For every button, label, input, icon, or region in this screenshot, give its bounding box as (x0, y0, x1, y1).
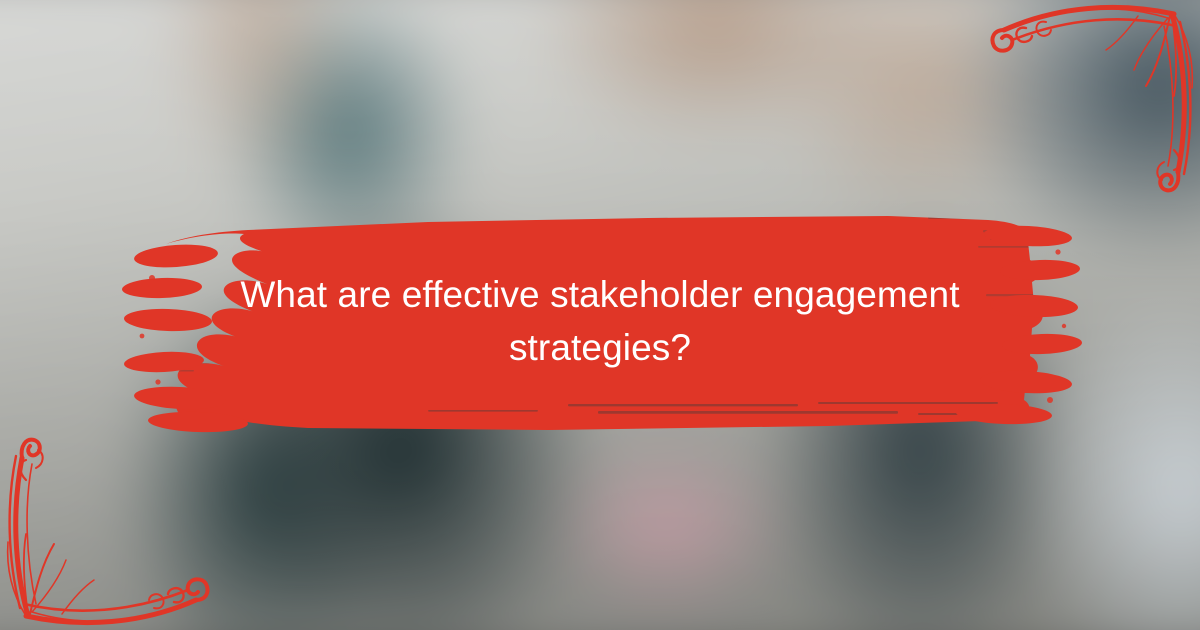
floral-flourish-top-right-icon (988, 0, 1200, 196)
page-title: What are effective stakeholder engagemen… (180, 268, 1020, 374)
floral-flourish-bottom-left-icon (0, 434, 212, 630)
poster-canvas: What are effective stakeholder engagemen… (0, 0, 1200, 630)
